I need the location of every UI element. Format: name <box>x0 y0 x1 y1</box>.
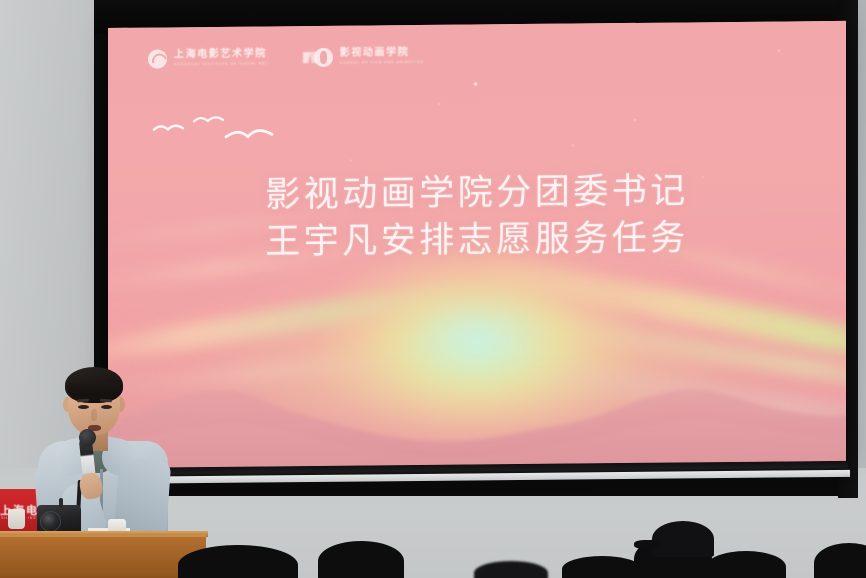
camera-mic-stalk <box>59 498 63 508</box>
logo-divider <box>291 50 292 66</box>
audience-cap-icon <box>652 521 714 557</box>
logo-secondary: 影视动画学院 SCHOOL OF FILM AND ANIMATION <box>314 47 424 67</box>
sparkle <box>572 145 574 147</box>
audience-cap-brim-icon <box>634 540 660 549</box>
projection-screen: 上海电影艺术学院 SHANGHAI INSTITUTE OF VISUAL AR… <box>108 21 846 468</box>
winged-circle-mark-icon <box>314 48 333 67</box>
audience-head <box>318 541 404 578</box>
podium <box>0 535 206 578</box>
slide-logo-row: 上海电影艺术学院 SHANGHAI INSTITUTE OF VISUAL AR… <box>148 47 424 69</box>
wing-icon <box>303 52 317 63</box>
slide-surface: 上海电影艺术学院 SHANGHAI INSTITUTE OF VISUAL AR… <box>108 21 846 468</box>
slide-title-line-2: 王宇凡安排志愿服务任务 <box>108 214 846 268</box>
sparkle <box>438 103 440 105</box>
slide-title: 影视动画学院分团委书记 王宇凡安排志愿服务任务 <box>108 167 846 268</box>
logo-secondary-text: 影视动画学院 SCHOOL OF FILM AND ANIMATION <box>340 48 424 65</box>
logo-secondary-en: SCHOOL OF FILM AND ANIMATION <box>340 61 424 65</box>
slide-hills <box>108 303 846 468</box>
flying-birds-icon <box>150 98 280 151</box>
logo-primary-en: SHANGHAI INSTITUTE OF VISUAL ART <box>174 62 269 67</box>
logo-primary-text: 上海电影艺术学院 SHANGHAI INSTITUTE OF VISUAL AR… <box>174 50 269 67</box>
sparkle <box>350 160 352 162</box>
audience-head <box>178 545 298 578</box>
logo-secondary-cn: 影视动画学院 <box>340 48 424 59</box>
slide-title-line-1: 影视动画学院分团委书记 <box>108 167 846 221</box>
sparkle <box>474 82 477 85</box>
audience-head <box>474 561 548 578</box>
screenshot-root: 上海电影艺术学院 SHANGHAI INSTITUTE OF VISUAL AR… <box>0 0 866 578</box>
camera-lens-icon <box>40 511 61 532</box>
cup-on-podium <box>8 509 25 529</box>
presenter-eye-right <box>101 405 112 409</box>
audience-head <box>562 556 642 578</box>
presenter-eye-left <box>78 405 89 409</box>
presenter-hair-fringe <box>68 383 120 399</box>
logo-primary: 上海电影艺术学院 SHANGHAI INSTITUTE OF VISUAL AR… <box>148 48 269 68</box>
presenter-nose <box>91 409 97 421</box>
audience-head <box>706 551 786 578</box>
logo-primary-cn: 上海电影艺术学院 <box>174 50 269 61</box>
spiral-wave-mark-icon <box>148 49 167 68</box>
